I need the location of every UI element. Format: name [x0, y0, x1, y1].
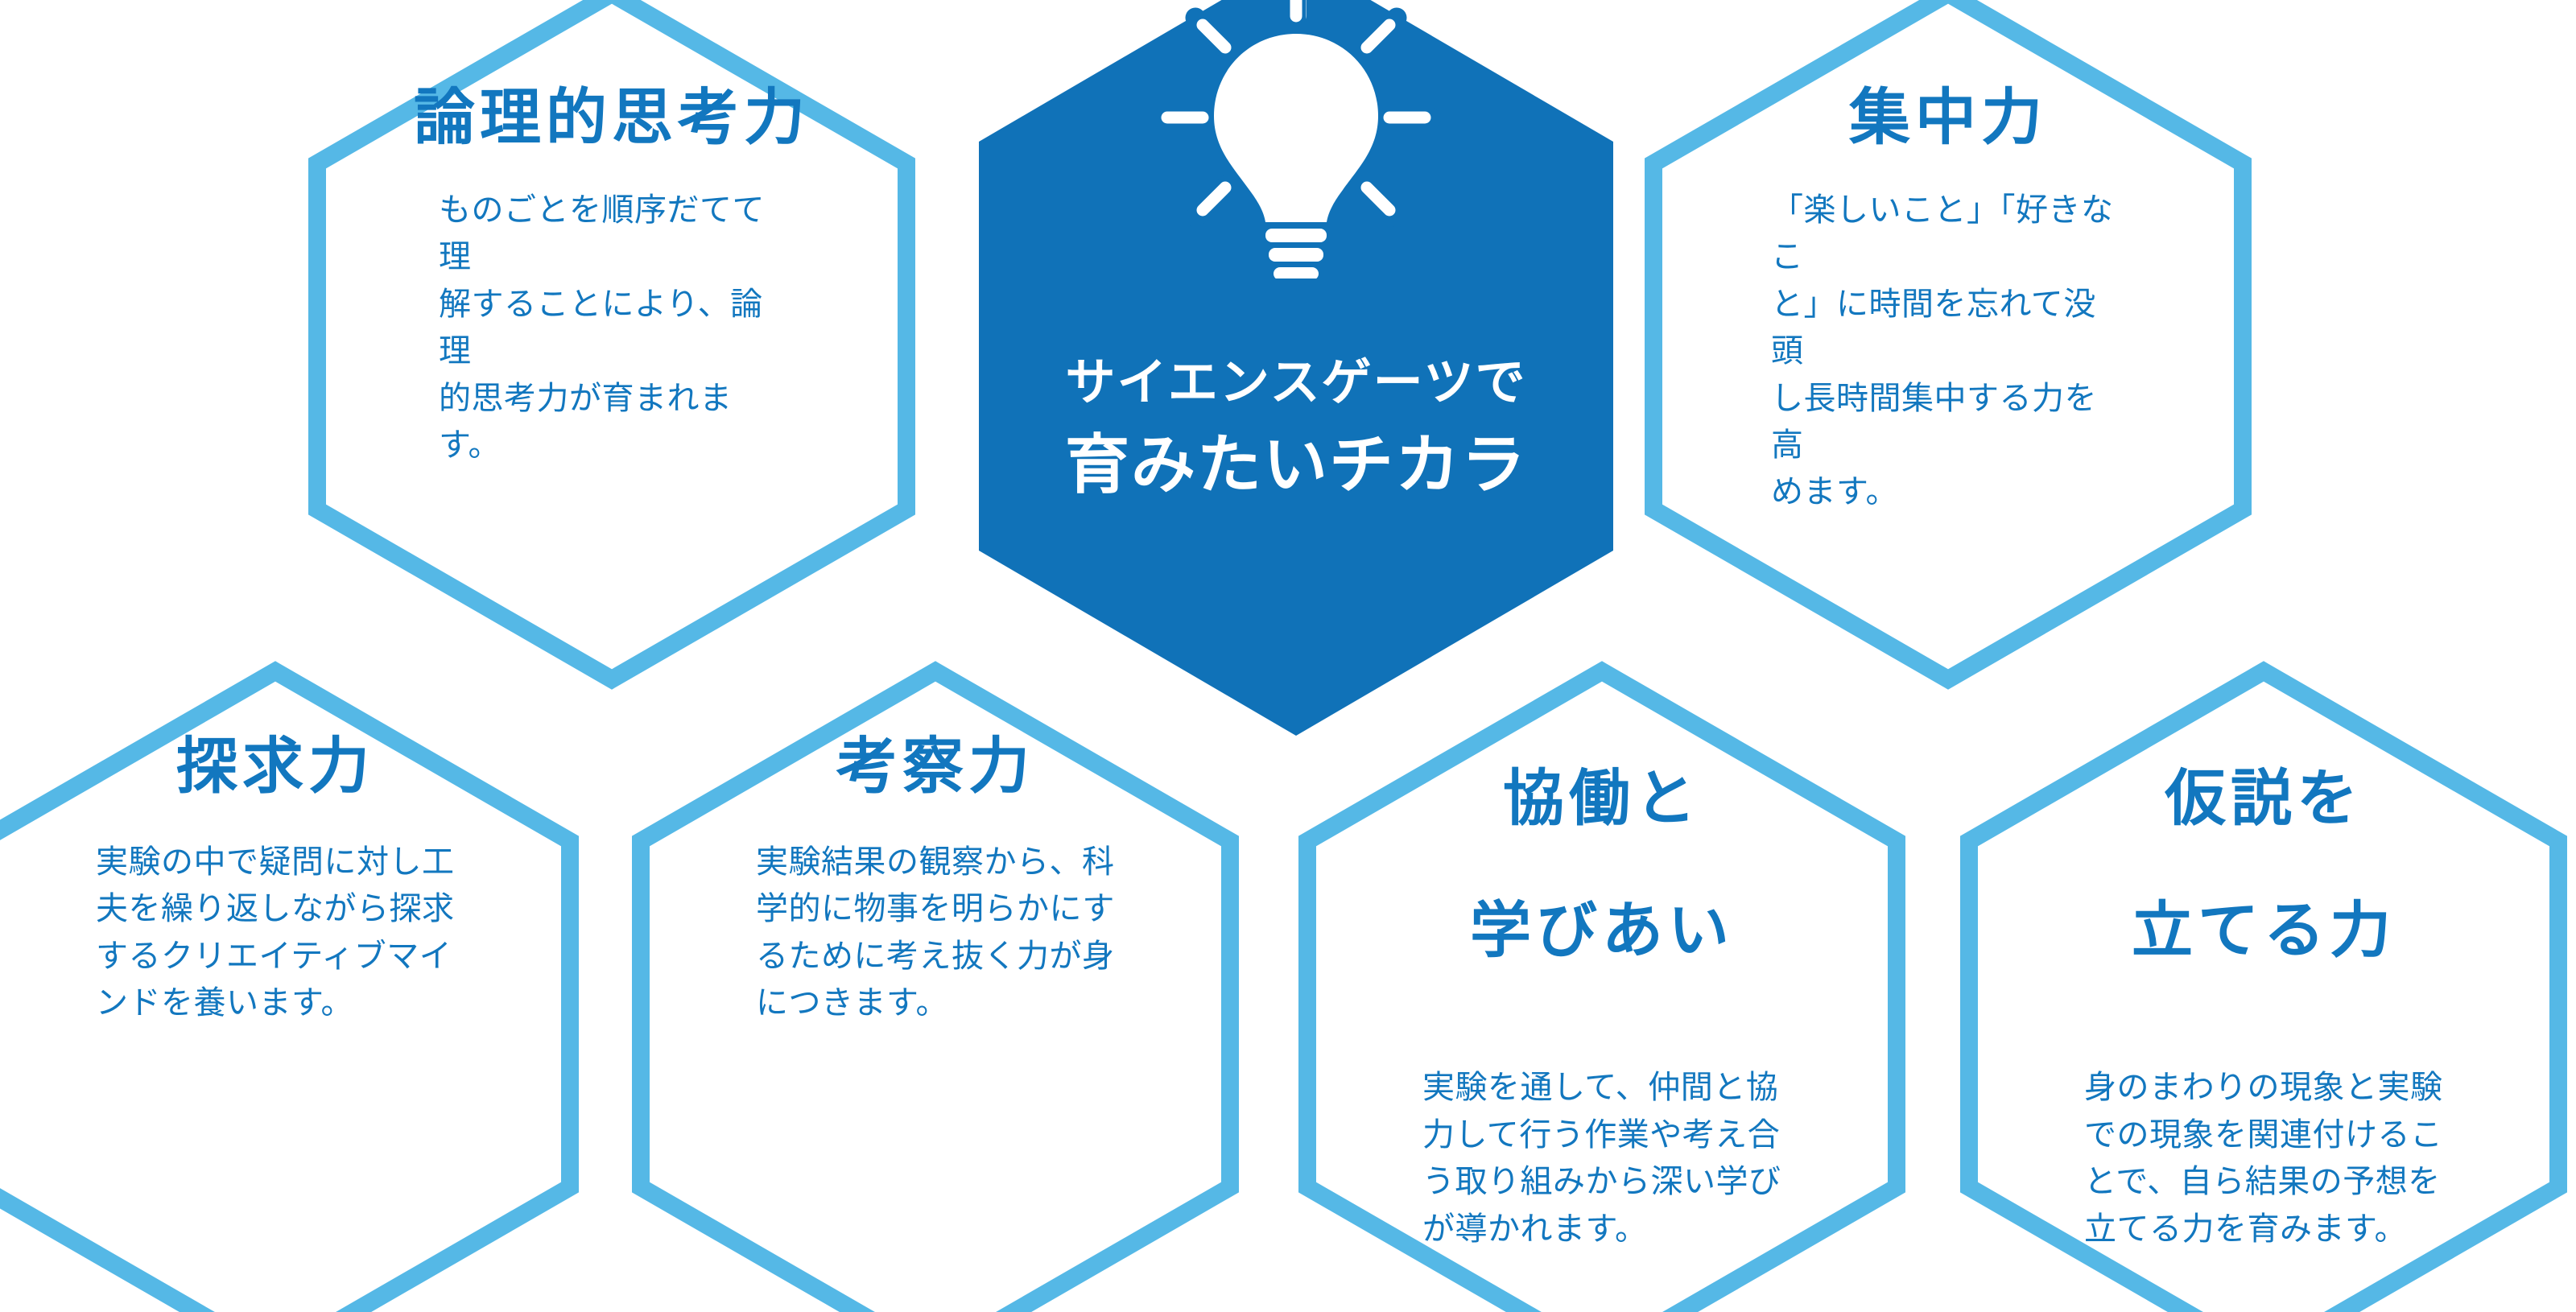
hexagon-outline-shape	[0, 660, 581, 1312]
hex-card-hypothesis[interactable]: 仮説を 立てる力 身のまわりの現象と実験 での現象を関連付けるこ とで、自ら結果…	[1958, 660, 2570, 1312]
hex-card-concentration[interactable]: 集中力 「楽しいこと」「好きなこ と」に時間を忘れて没頭 し長時間集中する力を高…	[1642, 0, 2254, 691]
hexagon-outline-shape	[1642, 0, 2254, 691]
hexagon-outline-shape	[630, 660, 1241, 1312]
center-title-line2: 育みたいチカラ	[1006, 427, 1586, 503]
hexagon-outline-shape	[1958, 660, 2570, 1312]
center-title: サイエンスゲーツで 育みたいチカラ	[1006, 338, 1586, 518]
hexagon-outline-shape	[306, 0, 918, 691]
infographic-canvas: 論理的思考力 ものごとを順序だてて理 解することにより、論理 的思考力が育まれま…	[0, 0, 2576, 1312]
hex-card-collaboration[interactable]: 協働と 学びあい 実験を通して、仲間と協 力して行う作業や考え合 う取り組みから…	[1296, 660, 1908, 1312]
hex-card-consideration[interactable]: 考察力 実験結果の観察から、科 学的に物事を明らかにす るために考え抜く力が身 …	[630, 660, 1241, 1312]
hex-card-center[interactable]: サイエンスゲーツで 育みたいチカラ	[974, 0, 1618, 741]
hexagon-outline-shape	[1296, 660, 1908, 1312]
hex-card-inquiry[interactable]: 探求力 実験の中で疑問に対し工 夫を繰り返しながら探求 するクリエイティブマイ …	[0, 660, 581, 1312]
center-title-line1: サイエンスゲーツで	[1006, 353, 1586, 412]
hex-card-logical-thinking[interactable]: 論理的思考力 ものごとを順序だてて理 解することにより、論理 的思考力が育まれま…	[306, 0, 918, 691]
